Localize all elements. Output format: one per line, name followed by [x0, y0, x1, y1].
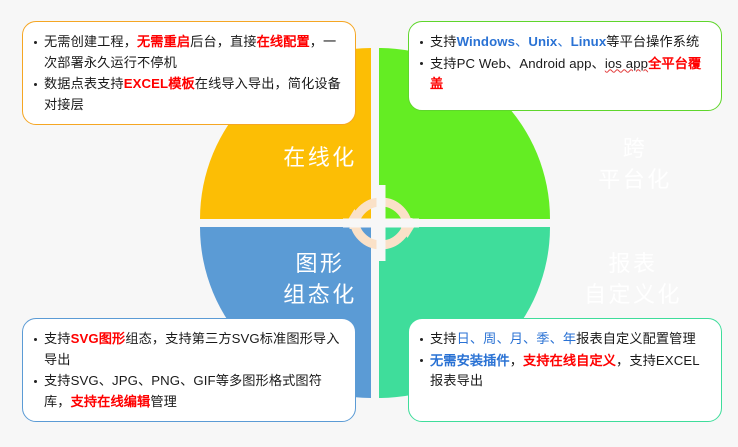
text-run: 支持: [430, 34, 457, 49]
callout-report-list: 支持日、周、月、季、年报表自定义配置管理无需安装插件，支持在线自定义，支持EXC…: [419, 329, 709, 392]
text-run: 支持: [44, 331, 71, 346]
quadrant-label-report-line1: 报表: [573, 248, 693, 279]
bullet-item: 无需安装插件，支持在线自定义，支持EXCEL报表导出: [419, 351, 709, 392]
bullet-item: 支持PC Web、Android app、ios app全平台覆盖: [419, 54, 709, 95]
callout-report: 支持日、周、月、季、年报表自定义配置管理无需安装插件，支持在线自定义，支持EXC…: [408, 318, 722, 422]
quadrant-label-platform: 跨 平台化: [575, 133, 695, 195]
text-run: 、: [515, 34, 528, 49]
text-run: SVG图形: [71, 331, 126, 346]
quadrant-label-report-line2: 自定义化: [573, 279, 693, 310]
callout-online: 无需创建工程，无需重启后台，直接在线配置，一次部署永久运行不停机数据点表支持EX…: [22, 21, 356, 125]
callout-online-list: 无需创建工程，无需重启后台，直接在线配置，一次部署永久运行不停机数据点表支持EX…: [33, 32, 343, 115]
quadrant-label-report: 报表 自定义化: [573, 248, 693, 310]
bullet-item: 支持日、周、月、季、年报表自定义配置管理: [419, 329, 709, 350]
text-run: 数据点表支持: [44, 76, 124, 91]
text-run: 支持: [430, 331, 457, 346]
text-run: 支持在线自定义: [523, 353, 616, 368]
quadrant-label-online-line1: 在线化: [283, 145, 357, 170]
text-run: 等平台操作系统: [606, 34, 699, 49]
text-run: 报表自定义配置管理: [576, 331, 696, 346]
callout-platform-list: 支持Windows、Unix、Linux等平台操作系统支持PC Web、Andr…: [419, 32, 709, 95]
text-run: ios app: [605, 56, 648, 71]
text-run: 后台，直接: [190, 34, 256, 49]
quadrant-label-platform-line1: 跨: [575, 133, 695, 164]
callout-platform: 支持Windows、Unix、Linux等平台操作系统支持PC Web、Andr…: [408, 21, 722, 111]
text-run: Windows: [457, 34, 515, 49]
quadrant-label-graphics-line2: 组态化: [260, 279, 380, 310]
text-run: 无需安装插件: [430, 353, 510, 368]
text-run: 无需重启: [137, 34, 190, 49]
text-run: 日、周、月、季、年: [457, 331, 577, 346]
bullet-item: 无需创建工程，无需重启后台，直接在线配置，一次部署永久运行不停机: [33, 32, 343, 73]
circular-arrows-icon: [343, 185, 419, 261]
text-run: 管理: [150, 394, 177, 409]
text-run: 在线配置: [257, 34, 310, 49]
bullet-item: 支持SVG图形组态，支持第三方SVG标准图形导入导出: [33, 329, 343, 370]
quadrant-label-online: 在线化: [260, 142, 380, 173]
text-run: Linux: [571, 34, 607, 49]
text-run: Unix: [528, 34, 557, 49]
text-run: 无需创建工程，: [44, 34, 137, 49]
bullet-item: 数据点表支持EXCEL模板在线导入导出，简化设备对接层: [33, 74, 343, 115]
text-run: ，: [510, 353, 523, 368]
callout-graphics: 支持SVG图形组态，支持第三方SVG标准图形导入导出支持SVG、JPG、PNG、…: [22, 318, 356, 422]
text-run: 、: [557, 34, 570, 49]
text-run: 支持PC Web、Android app、: [430, 56, 605, 71]
quadrant-label-platform-line2: 平台化: [575, 164, 695, 195]
text-run: EXCEL模板: [124, 76, 195, 91]
infographic-canvas: 在线化 跨 平台化 图形 组态化 报表 自定义化 无需创建工程，无需重启后台，直…: [0, 0, 738, 447]
text-run: 支持在线编辑: [71, 394, 151, 409]
callout-graphics-list: 支持SVG图形组态，支持第三方SVG标准图形导入导出支持SVG、JPG、PNG、…: [33, 329, 343, 412]
bullet-item: 支持Windows、Unix、Linux等平台操作系统: [419, 32, 709, 53]
bullet-item: 支持SVG、JPG、PNG、GIF等多图形格式图符库，支持在线编辑管理: [33, 371, 343, 412]
